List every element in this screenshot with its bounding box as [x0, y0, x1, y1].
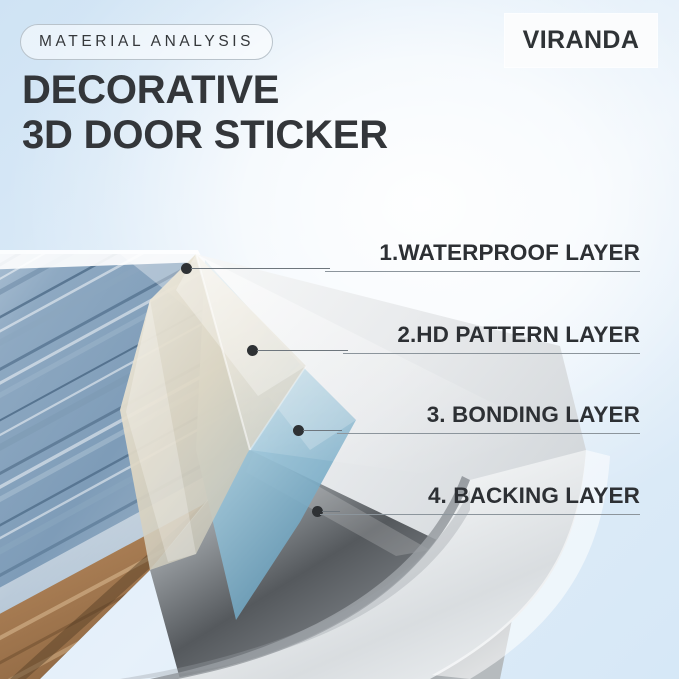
page-title: DECORATIVE 3D DOOR STICKER [22, 68, 388, 158]
product-infographic: 1.WATERPROOF LAYER 2.HD PATTERN LAYER 3.… [0, 0, 679, 679]
callout-bonding-layer: 3. BONDING LAYER [337, 402, 640, 434]
callout-label-3: 3. BONDING LAYER [337, 402, 640, 428]
brand-name: VIRANDA [523, 26, 640, 55]
material-analysis-badge: MATERIAL ANALYSIS [20, 24, 273, 60]
callout-rule-2 [343, 353, 640, 354]
callout-leader-1 [191, 268, 330, 269]
title-line-2: 3D DOOR STICKER [22, 113, 388, 158]
callout-backing-layer: 4. BACKING LAYER [320, 483, 640, 515]
callout-label-4: 4. BACKING LAYER [320, 483, 640, 509]
callout-rule-3 [337, 433, 640, 434]
callout-rule-4 [320, 514, 640, 515]
title-line-1: DECORATIVE [22, 68, 279, 112]
callout-waterproof-layer: 1.WATERPROOF LAYER [325, 240, 640, 272]
callout-leader-2 [257, 350, 348, 351]
callout-label-2: 2.HD PATTERN LAYER [343, 322, 640, 348]
callout-label-1: 1.WATERPROOF LAYER [325, 240, 640, 266]
callout-rule-1 [325, 271, 640, 272]
badge-label: MATERIAL ANALYSIS [39, 33, 254, 51]
brand-logo: VIRANDA [505, 14, 657, 67]
callout-hd-pattern-layer: 2.HD PATTERN LAYER [343, 322, 640, 354]
